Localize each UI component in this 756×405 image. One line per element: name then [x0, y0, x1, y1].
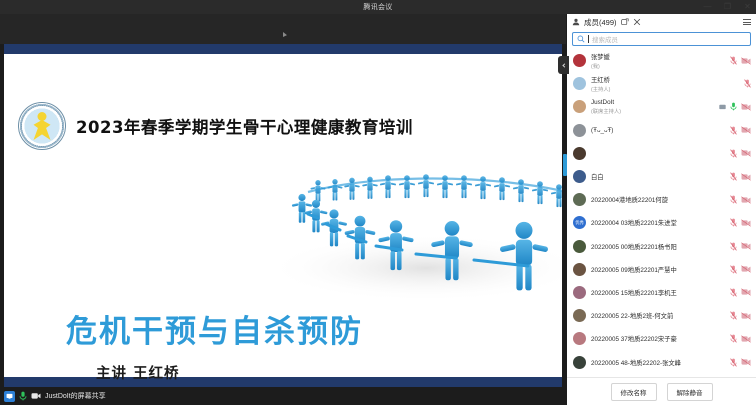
- window-title: 腾讯会议: [363, 2, 392, 12]
- slide-top-bar: [4, 44, 562, 54]
- participant-row[interactable]: 20220005 37地质22202宋子豪: [567, 327, 756, 350]
- participant-status-icons: [730, 56, 751, 65]
- participant-status-icons: [730, 195, 751, 204]
- share-status-label: JustDoIt的屏幕共享: [45, 391, 106, 401]
- participant-row[interactable]: 20220004港地质22201何旋: [567, 188, 756, 211]
- participant-row[interactable]: JustDoIt(联席主持人): [567, 95, 756, 118]
- participant-name-column: 20220005 00地质22201杨书阳: [591, 242, 725, 251]
- window-controls: — ❐ ✕: [703, 0, 752, 14]
- mic-muted-icon[interactable]: [730, 334, 737, 343]
- camera-off-icon[interactable]: [741, 103, 751, 111]
- participants-list[interactable]: 张梦媛(我)王红桥(主持人)JustDoIt(联席主持人)(Ŧᴗ_ᴗŦ)白白20…: [567, 49, 756, 377]
- share-status-bar: JustDoIt的屏幕共享: [0, 387, 566, 405]
- participant-name: 20220005 22-地质2班-何文前: [591, 311, 725, 320]
- mouse-cursor-icon: [283, 32, 287, 37]
- people-icon: [572, 18, 580, 26]
- emblem-ring: [21, 105, 63, 147]
- participant-name-column: 王红桥(主持人): [591, 75, 739, 93]
- camera-off-icon[interactable]: [741, 358, 751, 366]
- participant-status-icons: [730, 126, 751, 135]
- unmute-all-button[interactable]: 解除静音: [667, 383, 713, 401]
- text-caret: [588, 35, 589, 43]
- participant-row[interactable]: 20220005 22-地质2班-何文前: [567, 304, 756, 327]
- participant-name: 20220005 15地质22201李机王: [591, 288, 725, 297]
- camera-off-icon[interactable]: [741, 173, 751, 181]
- tencent-meeting-window: 腾讯会议 — ❐ ✕ 2023年春季学期学生骨干心理健康教育培训: [0, 0, 756, 405]
- participant-name: 20220005 48-地质22202-张文峰: [591, 358, 725, 367]
- rename-button[interactable]: 修改名称: [611, 383, 657, 401]
- mic-muted-icon[interactable]: [730, 56, 737, 65]
- mic-muted-icon[interactable]: [730, 172, 737, 181]
- participant-name-column: 白白: [591, 172, 725, 181]
- camera-off-icon[interactable]: [741, 242, 751, 250]
- participant-status-icons: [730, 218, 751, 227]
- participant-name: 王红桥: [591, 75, 739, 84]
- participant-name-column: JustDoIt(联席主持人): [591, 99, 714, 115]
- search-area: 搜索成员: [567, 30, 756, 49]
- camera-off-icon[interactable]: [741, 288, 751, 296]
- camera-off-icon[interactable]: [741, 219, 751, 227]
- avatar: [573, 147, 586, 160]
- hamburger-menu-icon[interactable]: [743, 19, 751, 25]
- participant-status-icons: [744, 79, 751, 88]
- main-split: 2023年春季学期学生骨干心理健康教育培训: [0, 14, 756, 405]
- participant-role: (联席主持人): [591, 107, 714, 115]
- presentation-slide: 2023年春季学期学生骨干心理健康教育培训: [4, 44, 562, 387]
- participant-role: (主持人): [591, 85, 739, 93]
- participant-role: (我): [591, 62, 725, 70]
- avatar: [573, 263, 586, 276]
- participant-name: 20220005 37地质22202宋子豪: [591, 334, 725, 343]
- camera-off-icon[interactable]: [741, 335, 751, 343]
- camera-off-icon[interactable]: [741, 196, 751, 204]
- participant-row[interactable]: 635宿舍长-覃志荣: [567, 374, 756, 377]
- avatar: [573, 170, 586, 183]
- people-circle-graphic: [256, 148, 562, 298]
- search-input[interactable]: 搜索成员: [572, 32, 751, 46]
- participant-name-column: 20220005 15地质22201李机王: [591, 288, 725, 297]
- avatar: [573, 309, 586, 322]
- school-emblem-icon: [18, 102, 66, 150]
- participants-panel-header: 成员(499): [567, 14, 756, 30]
- participant-row[interactable]: 20220005 00地质22201杨书阳: [567, 235, 756, 258]
- participant-row[interactable]: 20220005 48-地质22202-张文峰: [567, 350, 756, 373]
- slide-header-title: 2023年春季学期学生骨干心理健康教育培训: [76, 114, 413, 138]
- mic-muted-icon[interactable]: [744, 79, 751, 88]
- avatar: [573, 124, 586, 137]
- popout-icon[interactable]: [621, 18, 629, 26]
- camera-off-icon[interactable]: [741, 265, 751, 273]
- camera-icon[interactable]: [31, 392, 41, 400]
- participant-row[interactable]: [567, 142, 756, 165]
- participant-status-icons: [730, 358, 751, 367]
- screen-share-icon: [4, 391, 15, 402]
- people-illustration: [256, 148, 562, 298]
- participant-name: 白白: [591, 172, 725, 181]
- mic-muted-icon[interactable]: [730, 218, 737, 227]
- search-icon: [577, 35, 585, 43]
- mic-muted-icon[interactable]: [730, 195, 737, 204]
- participant-name: JustDoIt: [591, 99, 714, 106]
- participant-status-icons: [730, 242, 751, 251]
- participant-status-icons: [730, 149, 751, 158]
- search-placeholder: 搜索成员: [592, 34, 618, 44]
- mic-on-icon[interactable]: [19, 391, 27, 401]
- participant-status-icons: [730, 265, 751, 274]
- slide-main-title: 危机干预与自杀预防: [66, 306, 363, 351]
- avatar: [573, 286, 586, 299]
- mic-on-icon[interactable]: [730, 102, 737, 111]
- participant-name-column: 20220005 48-地质22202-张文峰: [591, 358, 725, 367]
- mic-muted-icon[interactable]: [730, 265, 737, 274]
- maximize-button[interactable]: ❐: [723, 3, 732, 11]
- avatar: [573, 332, 586, 345]
- slide-presenter: 主讲 王红桥: [96, 362, 180, 383]
- participant-name: 张梦媛: [591, 52, 725, 61]
- camera-off-icon[interactable]: [741, 57, 751, 65]
- participant-name: 20220005 00地质22201杨书阳: [591, 242, 725, 251]
- participant-row[interactable]: 20220005 15地质22201李机王: [567, 281, 756, 304]
- camera-off-icon[interactable]: [741, 149, 751, 157]
- participant-status-icons: [719, 102, 751, 111]
- participant-row[interactable]: 优秀20220004 03地质22201朱进堂: [567, 211, 756, 234]
- avatar: [573, 240, 586, 253]
- window-titlebar: 腾讯会议 — ❐ ✕: [0, 0, 756, 14]
- participant-status-icons: [730, 334, 751, 343]
- slide-bottom-bar: [4, 377, 562, 387]
- avatar: 优秀: [573, 216, 586, 229]
- participant-name: 20220004 03地质22201朱进堂: [591, 218, 725, 227]
- shared-screen-stage[interactable]: 2023年春季学期学生骨干心理健康教育培训: [0, 14, 566, 405]
- mic-muted-icon[interactable]: [730, 242, 737, 251]
- participant-name-column: 20220005 09地质22201严慧中: [591, 265, 725, 274]
- camera-off-icon[interactable]: [741, 126, 751, 134]
- slide-header: 2023年春季学期学生骨干心理健康教育培训: [18, 102, 413, 150]
- participant-row[interactable]: 王红桥(主持人): [567, 72, 756, 95]
- participant-name: 20220005 09地质22201严慧中: [591, 265, 725, 274]
- stage-top-strip: [0, 14, 566, 44]
- participant-row[interactable]: 白白: [567, 165, 756, 188]
- participant-name-column: 20220004港地质22201何旋: [591, 195, 725, 204]
- chevron-left-icon: [562, 63, 566, 67]
- participant-name-column: 20220005 37地质22202宋子豪: [591, 334, 725, 343]
- participant-name-column: 20220005 22-地质2班-何文前: [591, 311, 725, 320]
- participant-status-icons: [730, 311, 751, 320]
- participant-name-column: 张梦媛(我): [591, 52, 725, 70]
- participant-name: 20220004港地质22201何旋: [591, 195, 725, 204]
- avatar: [573, 100, 586, 113]
- mic-muted-icon[interactable]: [730, 149, 737, 158]
- participant-name-column: (Ŧᴗ_ᴗŦ): [591, 127, 725, 134]
- participant-row[interactable]: 张梦媛(我): [567, 49, 756, 72]
- camera-off-icon[interactable]: [741, 312, 751, 320]
- close-button[interactable]: ✕: [743, 3, 752, 11]
- participant-status-icons: [730, 288, 751, 297]
- participant-name-column: 20220004 03地质22201朱进堂: [591, 218, 725, 227]
- mic-muted-icon[interactable]: [730, 126, 737, 135]
- participant-name: (Ŧᴗ_ᴗŦ): [591, 127, 725, 134]
- participant-row[interactable]: 20220005 09地质22201严慧中: [567, 258, 756, 281]
- mic-muted-icon[interactable]: [730, 358, 737, 367]
- participants-count-label: 成员(499): [584, 17, 617, 28]
- mic-muted-icon[interactable]: [730, 311, 737, 320]
- participants-panel: 成员(499) 搜索成员: [566, 14, 756, 405]
- mic-muted-icon[interactable]: [730, 288, 737, 297]
- close-icon[interactable]: [633, 18, 641, 26]
- avatar: [573, 193, 586, 206]
- host-badge-icon: [719, 104, 726, 110]
- participant-status-icons: [730, 172, 751, 181]
- participant-row[interactable]: (Ŧᴗ_ᴗŦ): [567, 119, 756, 142]
- participants-panel-footer: 修改名称 解除静音: [567, 377, 756, 405]
- minimize-button[interactable]: —: [703, 3, 712, 11]
- avatar: [573, 77, 586, 90]
- avatar: [573, 356, 586, 369]
- avatar: [573, 54, 586, 67]
